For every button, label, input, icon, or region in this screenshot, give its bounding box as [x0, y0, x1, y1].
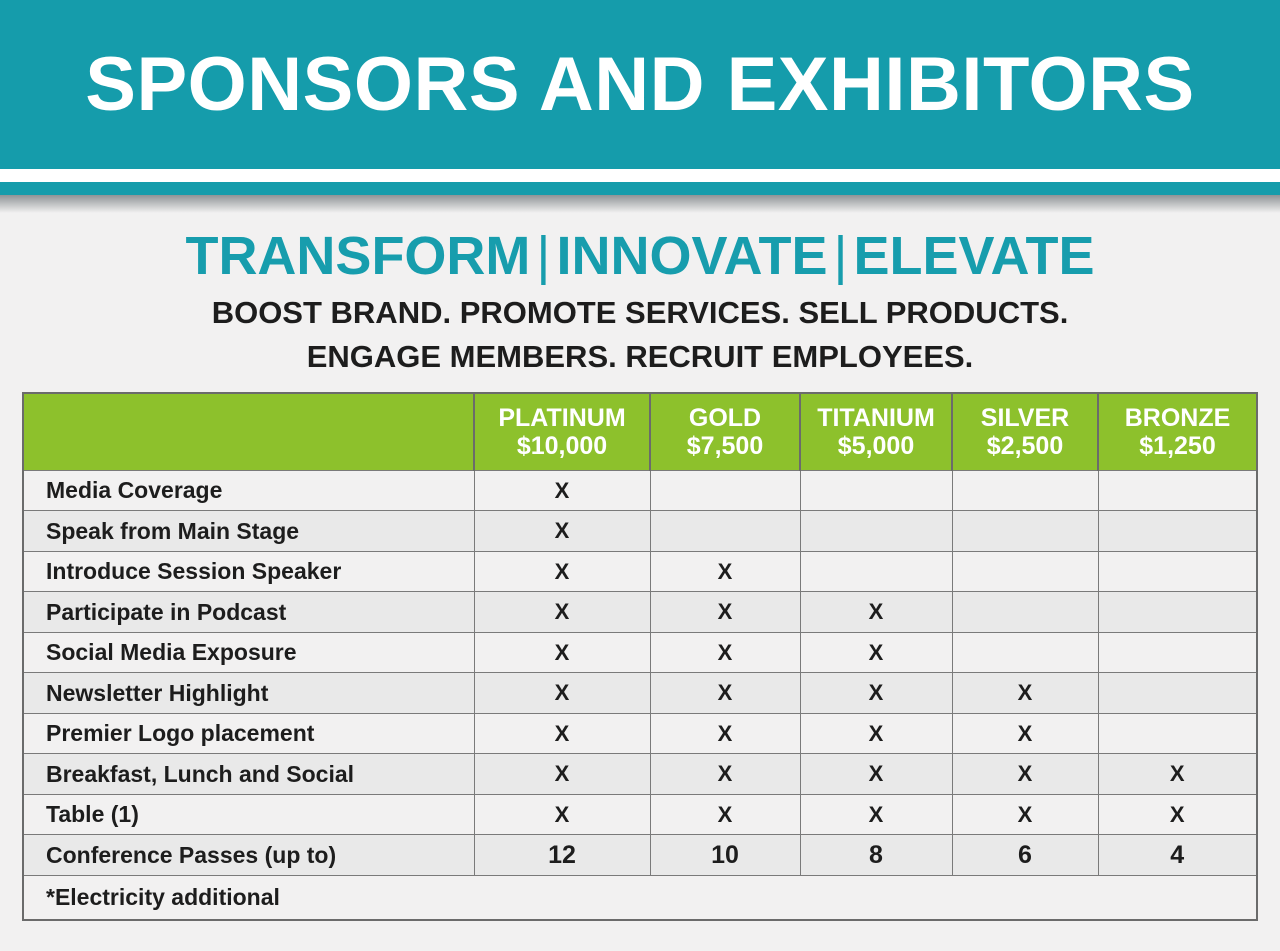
row-cell-mark: [1098, 673, 1256, 714]
tagline-separator-1: |: [530, 226, 556, 286]
sponsorship-tiers-table: PLATINUM $10,000 GOLD $7,500 TITANIUM $5…: [22, 392, 1258, 921]
row-cell-mark: [800, 551, 952, 592]
row-cell-mark: X: [1098, 794, 1256, 835]
row-feature-label: Participate in Podcast: [24, 592, 474, 633]
row-feature-label: Newsletter Highlight: [24, 673, 474, 714]
row-cell-mark: [1098, 511, 1256, 552]
tagline-word-transform: TRANSFORM: [185, 226, 530, 286]
table-row: Social Media ExposureXXX: [24, 632, 1256, 673]
table-row: Media CoverageX: [24, 470, 1256, 511]
row-feature-label: Breakfast, Lunch and Social: [24, 754, 474, 795]
row-cell-mark: X: [650, 713, 800, 754]
table-footnote: *Electricity additional: [24, 875, 1256, 919]
row-cell-mark: [952, 470, 1098, 511]
row-cell-mark: X: [800, 632, 952, 673]
row-feature-label: Table (1): [24, 794, 474, 835]
row-cell-mark: X: [650, 592, 800, 633]
row-cell-mark: [1098, 713, 1256, 754]
row-cell-mark: X: [800, 754, 952, 795]
row-cell-mark: [1098, 551, 1256, 592]
row-cell-mark: [1098, 470, 1256, 511]
table-row: Newsletter HighlightXXXX: [24, 673, 1256, 714]
row-feature-label: Premier Logo placement: [24, 713, 474, 754]
row-cell-count: 12: [474, 835, 650, 876]
row-cell-mark: [1098, 592, 1256, 633]
row-cell-mark: X: [474, 754, 650, 795]
row-feature-label: Social Media Exposure: [24, 632, 474, 673]
tier-price-bronze: $1,250: [1101, 432, 1254, 460]
row-cell-mark: X: [474, 511, 650, 552]
row-cell-mark: X: [800, 794, 952, 835]
row-feature-label: Media Coverage: [24, 470, 474, 511]
table-row: Participate in PodcastXXX: [24, 592, 1256, 633]
row-cell-mark: [650, 470, 800, 511]
row-cell-mark: X: [952, 713, 1098, 754]
table-header: PLATINUM $10,000 GOLD $7,500 TITANIUM $5…: [24, 394, 1256, 470]
row-cell-count: 8: [800, 835, 952, 876]
table-row: Introduce Session SpeakerXX: [24, 551, 1256, 592]
table-row: Speak from Main StageX: [24, 511, 1256, 552]
table-header-row: PLATINUM $10,000 GOLD $7,500 TITANIUM $5…: [24, 394, 1256, 470]
column-header-titanium: TITANIUM $5,000: [800, 394, 952, 470]
row-cell-mark: [952, 511, 1098, 552]
row-cell-mark: [800, 511, 952, 552]
row-cell-mark: X: [474, 673, 650, 714]
tier-name-silver: SILVER: [955, 404, 1095, 432]
row-cell-mark: X: [650, 632, 800, 673]
tagline-word-innovate: INNOVATE: [556, 226, 827, 286]
tagline-section: TRANSFORM|INNOVATE|ELEVATE BOOST BRAND. …: [0, 213, 1280, 379]
row-cell-count: 10: [650, 835, 800, 876]
tier-price-platinum: $10,000: [477, 432, 647, 460]
row-cell-count: 6: [952, 835, 1098, 876]
row-cell-mark: X: [474, 794, 650, 835]
row-feature-label: Introduce Session Speaker: [24, 551, 474, 592]
row-cell-mark: X: [800, 673, 952, 714]
row-cell-mark: X: [952, 754, 1098, 795]
header-drop-shadow: [0, 195, 1280, 213]
tagline-headline: TRANSFORM|INNOVATE|ELEVATE: [0, 227, 1280, 285]
row-cell-mark: X: [474, 592, 650, 633]
page-title: SPONSORS AND EXHIBITORS: [85, 47, 1194, 123]
row-cell-mark: X: [1098, 754, 1256, 795]
table-row: Conference Passes (up to)1210864: [24, 835, 1256, 876]
row-cell-mark: [952, 551, 1098, 592]
row-cell-count: 4: [1098, 835, 1256, 876]
row-cell-mark: [952, 632, 1098, 673]
tier-name-titanium: TITANIUM: [803, 404, 949, 432]
column-header-silver: SILVER $2,500: [952, 394, 1098, 470]
tier-name-platinum: PLATINUM: [477, 404, 647, 432]
row-cell-mark: X: [474, 632, 650, 673]
row-feature-label: Conference Passes (up to): [24, 835, 474, 876]
tier-price-gold: $7,500: [653, 432, 797, 460]
row-cell-mark: [800, 470, 952, 511]
table-footnote-row: *Electricity additional: [24, 875, 1256, 919]
tier-price-titanium: $5,000: [803, 432, 949, 460]
column-header-gold: GOLD $7,500: [650, 394, 800, 470]
column-header-feature: [24, 394, 474, 470]
row-cell-mark: [1098, 632, 1256, 673]
row-cell-mark: [650, 511, 800, 552]
row-cell-mark: X: [650, 551, 800, 592]
row-cell-mark: X: [952, 673, 1098, 714]
row-cell-mark: X: [800, 592, 952, 633]
column-header-platinum: PLATINUM $10,000: [474, 394, 650, 470]
tier-name-bronze: BRONZE: [1101, 404, 1254, 432]
table-row: Breakfast, Lunch and SocialXXXXX: [24, 754, 1256, 795]
row-cell-mark: X: [474, 551, 650, 592]
tagline-subline-1: BOOST BRAND. PROMOTE SERVICES. SELL PROD…: [0, 291, 1280, 335]
page-header-band: SPONSORS AND EXHIBITORS: [0, 0, 1280, 169]
tagline-word-elevate: ELEVATE: [854, 226, 1095, 286]
tagline-subline-2: ENGAGE MEMBERS. RECRUIT EMPLOYEES.: [0, 335, 1280, 379]
header-white-gap: [0, 169, 1280, 182]
column-header-bronze: BRONZE $1,250: [1098, 394, 1256, 470]
tier-name-gold: GOLD: [653, 404, 797, 432]
row-feature-label: Speak from Main Stage: [24, 511, 474, 552]
row-cell-mark: X: [650, 754, 800, 795]
row-cell-mark: X: [650, 794, 800, 835]
row-cell-mark: X: [800, 713, 952, 754]
row-cell-mark: X: [650, 673, 800, 714]
table-row: Table (1)XXXXX: [24, 794, 1256, 835]
row-cell-mark: X: [474, 713, 650, 754]
table-body: Media CoverageXSpeak from Main StageXInt…: [24, 470, 1256, 919]
table-row: Premier Logo placementXXXX: [24, 713, 1256, 754]
tier-price-silver: $2,500: [955, 432, 1095, 460]
row-cell-mark: [952, 592, 1098, 633]
row-cell-mark: X: [952, 794, 1098, 835]
row-cell-mark: X: [474, 470, 650, 511]
header-accent-bar: [0, 182, 1280, 195]
tagline-separator-2: |: [827, 226, 853, 286]
